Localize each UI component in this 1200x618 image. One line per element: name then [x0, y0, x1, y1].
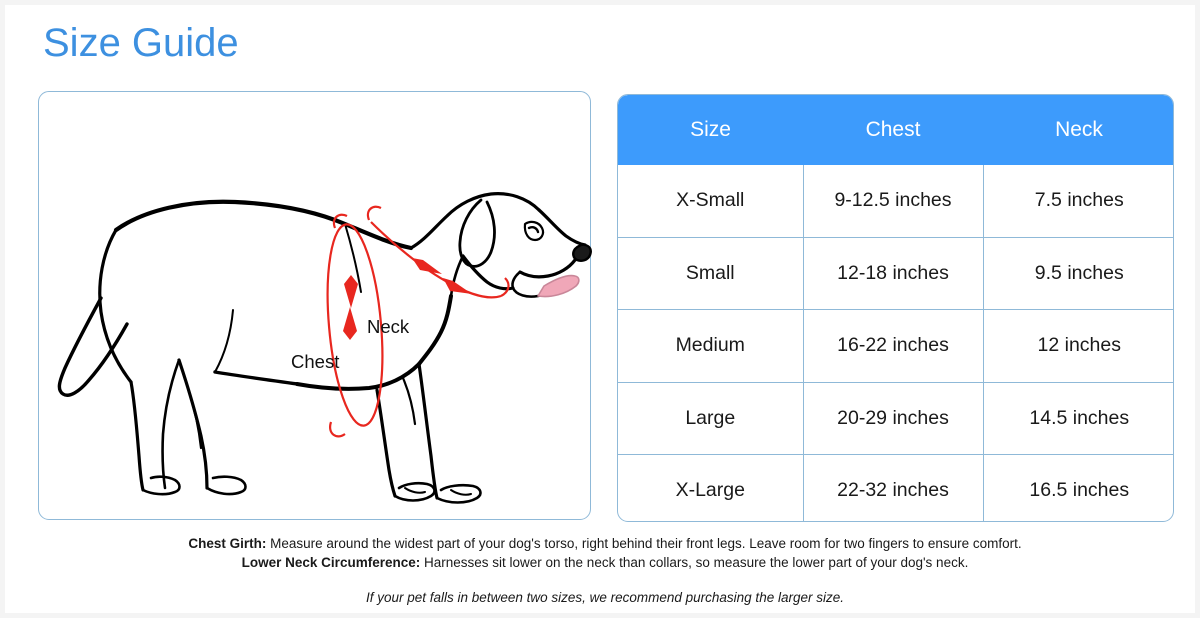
cell-neck: 12 inches	[983, 310, 1174, 383]
neck-arrow-markers	[412, 258, 472, 294]
dog-outline-icon	[59, 194, 590, 503]
table-row: Medium 16-22 inches 12 inches	[618, 310, 1174, 383]
size-chart-table: Size Chest Neck X-Small 9-12.5 inches 7.…	[617, 94, 1174, 522]
cell-neck: 14.5 inches	[983, 382, 1174, 455]
chest-measurement-label: Chest	[291, 351, 339, 373]
dog-illustration-panel: Neck Chest	[38, 91, 591, 520]
cell-size: Small	[618, 237, 803, 310]
cell-size: Large	[618, 382, 803, 455]
footnote-sizing-note: If your pet falls in between two sizes, …	[5, 590, 1200, 605]
cell-size: X-Small	[618, 165, 803, 237]
column-header-neck: Neck	[983, 95, 1174, 165]
footnote-neck-text: Harnesses sit lower on the neck than col…	[420, 555, 968, 570]
cell-neck: 16.5 inches	[983, 455, 1174, 523]
table-row: Small 12-18 inches 9.5 inches	[618, 237, 1174, 310]
column-header-chest: Chest	[803, 95, 983, 165]
footnote-chest-girth: Chest Girth: Measure around the widest p…	[5, 534, 1200, 553]
cell-chest: 9-12.5 inches	[803, 165, 983, 237]
table-row: X-Small 9-12.5 inches 7.5 inches	[618, 165, 1174, 237]
cell-chest: 20-29 inches	[803, 382, 983, 455]
footnote-chest-text: Measure around the widest part of your d…	[266, 536, 1021, 551]
column-header-size: Size	[618, 95, 803, 165]
cell-size: X-Large	[618, 455, 803, 523]
table-header-row: Size Chest Neck	[618, 95, 1174, 165]
cell-neck: 7.5 inches	[983, 165, 1174, 237]
table-row: Large 20-29 inches 14.5 inches	[618, 382, 1174, 455]
cell-chest: 16-22 inches	[803, 310, 983, 383]
size-guide-page: Size Guide	[0, 0, 1200, 618]
table-row: X-Large 22-32 inches 16.5 inches	[618, 455, 1174, 523]
footnote-neck-circumference: Lower Neck Circumference: Harnesses sit …	[5, 553, 1200, 572]
cell-neck: 9.5 inches	[983, 237, 1174, 310]
cell-size: Medium	[618, 310, 803, 383]
dog-diagram-svg	[39, 92, 592, 521]
neck-measurement-label: Neck	[367, 316, 409, 338]
cell-chest: 22-32 inches	[803, 455, 983, 523]
footnote-neck-term: Lower Neck Circumference:	[242, 555, 421, 570]
page-title: Size Guide	[43, 21, 239, 66]
chest-arrow-markers	[343, 275, 358, 340]
footnote-chest-term: Chest Girth:	[188, 536, 266, 551]
cell-chest: 12-18 inches	[803, 237, 983, 310]
footnotes: Chest Girth: Measure around the widest p…	[5, 534, 1200, 605]
